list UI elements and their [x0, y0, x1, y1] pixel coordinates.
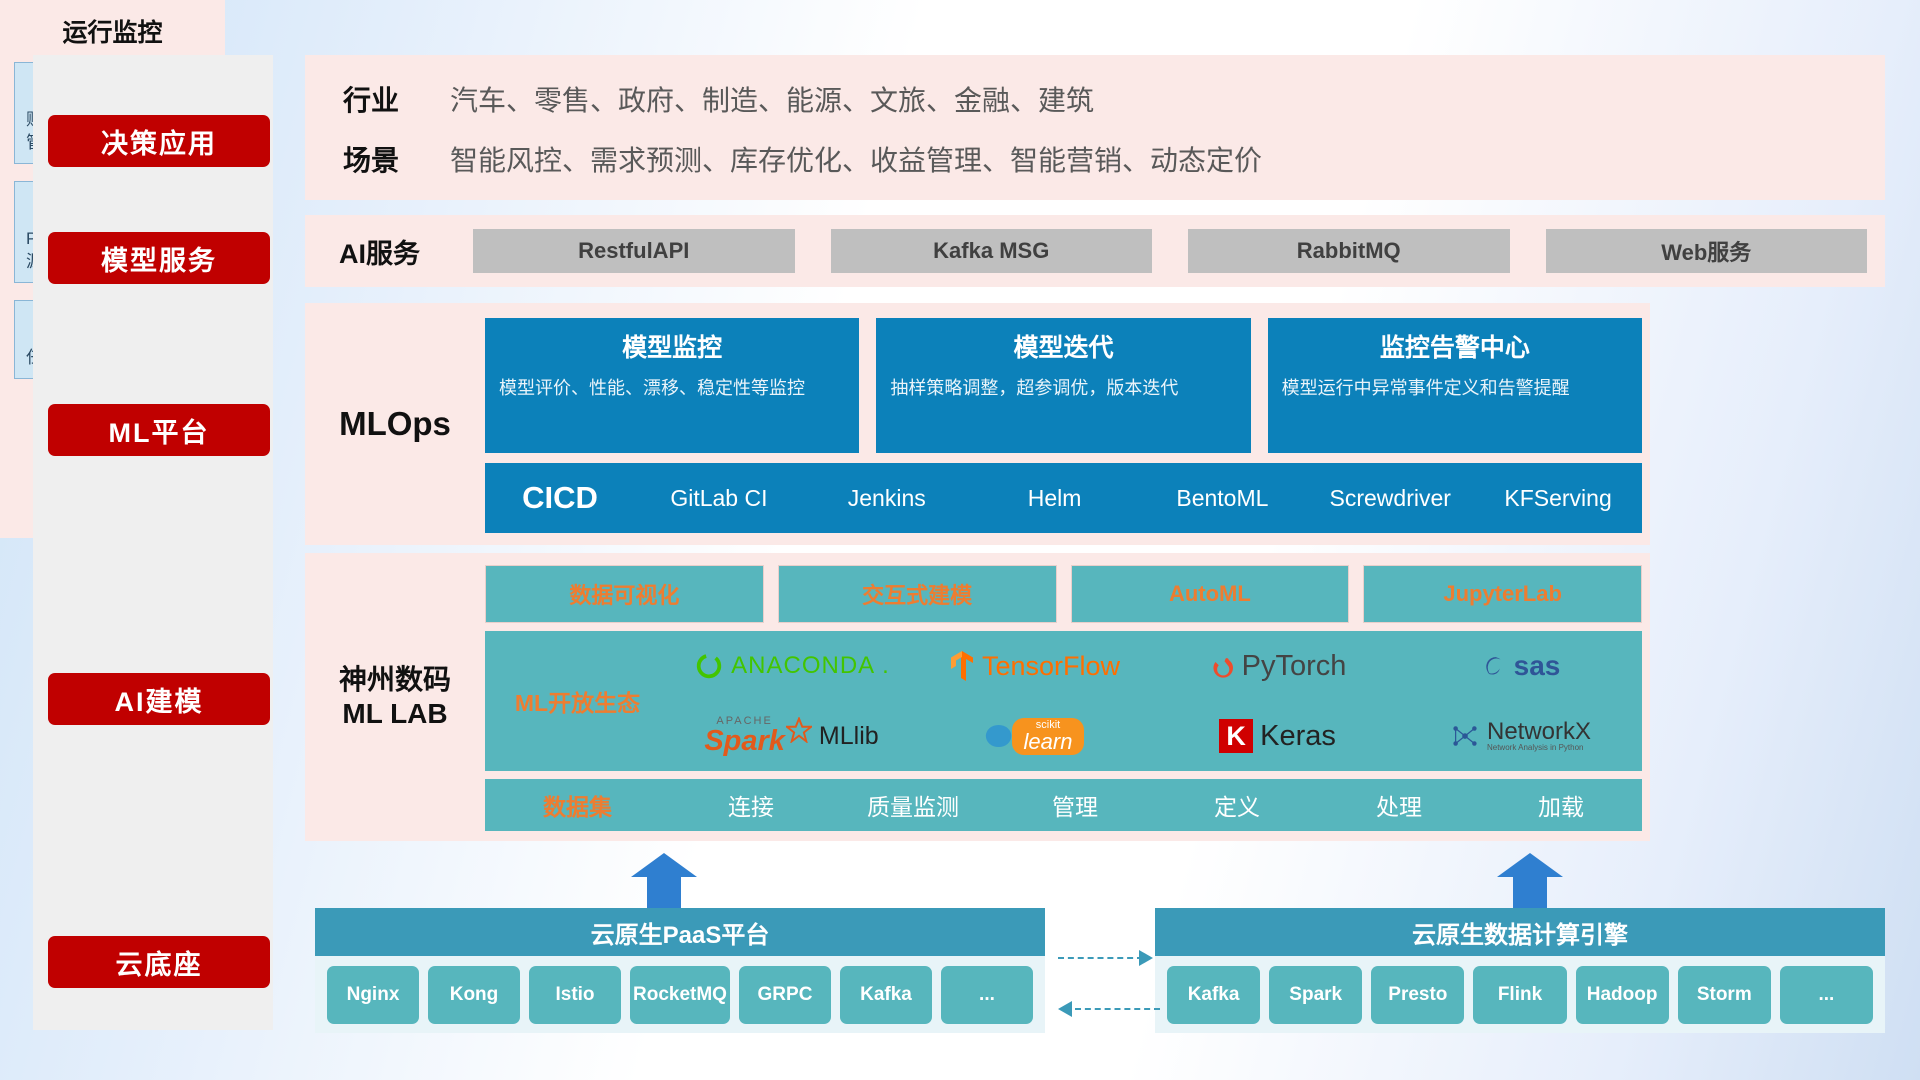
logo-anaconda[interactable]: ANACONDA .	[670, 651, 913, 681]
ml-lab-label-line1: 神州数码	[339, 663, 451, 697]
cicd-tool-bentoml[interactable]: BentoML	[1138, 486, 1306, 510]
runtime-monitor-title: 运行监控	[0, 0, 225, 62]
cicd-tool-gitlab-ci[interactable]: GitLab CI	[635, 486, 803, 510]
lab-tool-automl[interactable]: AutoML	[1071, 565, 1350, 623]
mlops-card-alert-center[interactable]: 监控告警中心 模型运行中异常事件定义和告警提醒	[1268, 318, 1642, 453]
sas-icon	[1481, 653, 1507, 679]
dataset-item-connect[interactable]: 连接	[670, 788, 832, 822]
dataset-row: 数据集 连接 质量监测 管理 定义 处理 加载	[485, 779, 1642, 831]
mlops-card-model-monitoring[interactable]: 模型监控 模型评价、性能、漂移、稳定性等监控	[485, 318, 859, 453]
mlops-label: MLOps	[305, 303, 485, 545]
pytorch-icon	[1209, 651, 1235, 681]
connector-right-arrow-icon	[1139, 950, 1153, 966]
cloud-paas-title: 云原生PaaS平台	[315, 908, 1045, 956]
lab-tool-jupyterlab[interactable]: JupyterLab	[1363, 565, 1642, 623]
logo-spark-mllib[interactable]: APACHE Spark MLlib	[670, 716, 913, 756]
stage-rail	[33, 55, 273, 1030]
logo-anaconda-text: ANACONDA	[731, 652, 875, 680]
cloud-compute-chip-group: Kafka Spark Presto Flink Hadoop Storm ..…	[1155, 956, 1885, 1034]
ml-lab-label-line2: ML LAB	[342, 697, 447, 731]
stage-model-service[interactable]: 模型服务	[48, 232, 270, 284]
compute-chip-more[interactable]: ...	[1780, 966, 1873, 1024]
compute-chip-spark[interactable]: Spark	[1269, 966, 1362, 1024]
logo-pytorch-text: PyTorch	[1242, 650, 1347, 683]
cloud-paas-chip-group: Nginx Kong Istio RocketMQ GRPC Kafka ...	[315, 956, 1045, 1034]
cloud-chip-nginx[interactable]: Nginx	[327, 966, 419, 1024]
cicd-tool-jenkins[interactable]: Jenkins	[803, 486, 971, 510]
ml-lab-label: 神州数码 ML LAB	[305, 553, 485, 841]
ai-service-chip-kafka-msg[interactable]: Kafka MSG	[831, 229, 1153, 273]
card-desc: 模型运行中异常事件定义和告警提醒	[1282, 376, 1628, 400]
logo-tensorflow-text: TensorFlow	[982, 651, 1120, 682]
cloud-chip-kong[interactable]: Kong	[428, 966, 520, 1024]
scene-value: 智能风控、需求预测、库存优化、收益管理、智能营销、动态定价	[450, 139, 1262, 179]
ai-service-chip-web-service[interactable]: Web服务	[1546, 229, 1868, 273]
logo-tensorflow[interactable]: TensorFlow	[913, 650, 1156, 682]
connector-left-arrow-icon	[1058, 1001, 1072, 1017]
cloud-chip-kafka[interactable]: Kafka	[840, 966, 932, 1024]
cicd-tool-screwdriver[interactable]: Screwdriver	[1306, 486, 1474, 510]
mlops-card-model-iteration[interactable]: 模型迭代 抽样策略调整，超参调优，版本迭代	[876, 318, 1250, 453]
stage-ai-modeling[interactable]: AI建模	[48, 673, 270, 725]
eco-label: ML开放生态	[485, 684, 670, 718]
logo-networkx[interactable]: NetworkX Network Analysis in Python	[1399, 719, 1642, 753]
keras-icon: K	[1219, 719, 1253, 753]
mlops-card-group: 模型监控 模型评价、性能、漂移、稳定性等监控 模型迭代 抽样策略调整，超参调优，…	[485, 318, 1642, 453]
card-desc: 模型评价、性能、漂移、稳定性等监控	[499, 376, 845, 400]
dataset-item-load[interactable]: 加载	[1480, 788, 1642, 822]
dataset-label: 数据集	[485, 788, 670, 822]
cicd-label: CICD	[485, 480, 635, 516]
logo-keras[interactable]: K Keras	[1156, 719, 1399, 753]
compute-chip-presto[interactable]: Presto	[1371, 966, 1464, 1024]
logo-keras-text: Keras	[1260, 720, 1336, 753]
tensorflow-icon	[949, 650, 975, 682]
compute-chip-flink[interactable]: Flink	[1473, 966, 1566, 1024]
mlops-band: MLOps 模型监控 模型评价、性能、漂移、稳定性等监控 模型迭代 抽样策略调整…	[305, 303, 1650, 545]
compute-chip-hadoop[interactable]: Hadoop	[1576, 966, 1669, 1024]
stage-decision-app[interactable]: 决策应用	[48, 115, 270, 167]
logo-sas-text: sas	[1514, 650, 1561, 682]
compute-chip-kafka[interactable]: Kafka	[1167, 966, 1260, 1024]
ml-lab-tool-group: 数据可视化 交互式建模 AutoML JupyterLab	[485, 565, 1642, 623]
cicd-row: CICD GitLab CI Jenkins Helm BentoML Scre…	[485, 463, 1642, 533]
stage-cloud-base[interactable]: 云底座	[48, 936, 270, 988]
cloud-chip-istio[interactable]: Istio	[529, 966, 621, 1024]
logo-mllib-text: MLlib	[819, 722, 879, 751]
ai-service-band: AI服务 RestfulAPI Kafka MSG RabbitMQ Web服务	[305, 215, 1885, 287]
stage-ml-platform[interactable]: ML平台	[48, 404, 270, 456]
industry-value: 汽车、零售、政府、制造、能源、文旅、金融、建筑	[450, 79, 1094, 119]
cicd-tool-group: GitLab CI Jenkins Helm BentoML Screwdriv…	[635, 486, 1642, 510]
ai-service-label: AI服务	[305, 232, 455, 271]
ai-service-chip-restfulapi[interactable]: RestfulAPI	[473, 229, 795, 273]
cloud-paas-box: 云原生PaaS平台 Nginx Kong Istio RocketMQ GRPC…	[315, 908, 1045, 1033]
card-title: 模型迭代	[890, 328, 1236, 364]
logo-pytorch[interactable]: PyTorch	[1156, 650, 1399, 683]
scene-label: 场景	[305, 139, 450, 179]
logo-networkx-text: NetworkX	[1487, 719, 1591, 744]
lab-tool-interactive-modeling[interactable]: 交互式建模	[778, 565, 1057, 623]
cicd-tool-kfserving[interactable]: KFServing	[1474, 486, 1642, 510]
cloud-chip-more[interactable]: ...	[941, 966, 1033, 1024]
cloud-chip-rocketmq[interactable]: RocketMQ	[630, 966, 730, 1024]
industry-scene-band: 行业 汽车、零售、政府、制造、能源、文旅、金融、建筑 场景 智能风控、需求预测、…	[305, 55, 1885, 200]
ml-lab-band: 神州数码 ML LAB 数据可视化 交互式建模 AutoML JupyterLa…	[305, 553, 1650, 841]
eco-logo-grid: ANACONDA . TensorFlow PyTorch	[670, 631, 1642, 771]
connector-right-dashed	[1058, 957, 1143, 959]
dataset-item-define[interactable]: 定义	[1156, 788, 1318, 822]
dataset-item-process[interactable]: 处理	[1318, 788, 1480, 822]
compute-chip-storm[interactable]: Storm	[1678, 966, 1771, 1024]
lab-tool-data-visualization[interactable]: 数据可视化	[485, 565, 764, 623]
spark-star-icon	[786, 717, 812, 743]
ml-open-ecosystem: ML开放生态 ANACONDA . TensorFlow	[485, 631, 1642, 771]
diagram-canvas: 决策应用 模型服务 ML平台 AI建模 云底座 行业 汽车、零售、政府、制造、能…	[0, 0, 1920, 1080]
ai-service-chip-rabbitmq[interactable]: RabbitMQ	[1188, 229, 1510, 273]
cloud-compute-title: 云原生数据计算引擎	[1155, 908, 1885, 956]
anaconda-icon	[694, 651, 724, 681]
logo-networkx-sub: Network Analysis in Python	[1487, 744, 1591, 752]
networkx-icon	[1450, 721, 1480, 751]
cloud-compute-box: 云原生数据计算引擎 Kafka Spark Presto Flink Hadoo…	[1155, 908, 1885, 1033]
logo-scikit-learn[interactable]: scikit learn	[913, 718, 1156, 755]
dataset-item-manage[interactable]: 管理	[994, 788, 1156, 822]
card-desc: 抽样策略调整，超参调优，版本迭代	[890, 376, 1236, 400]
logo-sas[interactable]: sas	[1399, 650, 1642, 682]
card-title: 模型监控	[499, 328, 845, 364]
cicd-tool-helm[interactable]: Helm	[971, 486, 1139, 510]
cloud-chip-grpc[interactable]: GRPC	[739, 966, 831, 1024]
scene-row: 场景 智能风控、需求预测、库存优化、收益管理、智能营销、动态定价	[305, 139, 1262, 179]
card-title: 监控告警中心	[1282, 328, 1628, 364]
dataset-item-quality[interactable]: 质量监测	[832, 788, 994, 822]
connector-left-dashed	[1075, 1008, 1160, 1010]
industry-label: 行业	[305, 79, 450, 119]
industry-row: 行业 汽车、零售、政府、制造、能源、文旅、金融、建筑	[305, 79, 1094, 119]
